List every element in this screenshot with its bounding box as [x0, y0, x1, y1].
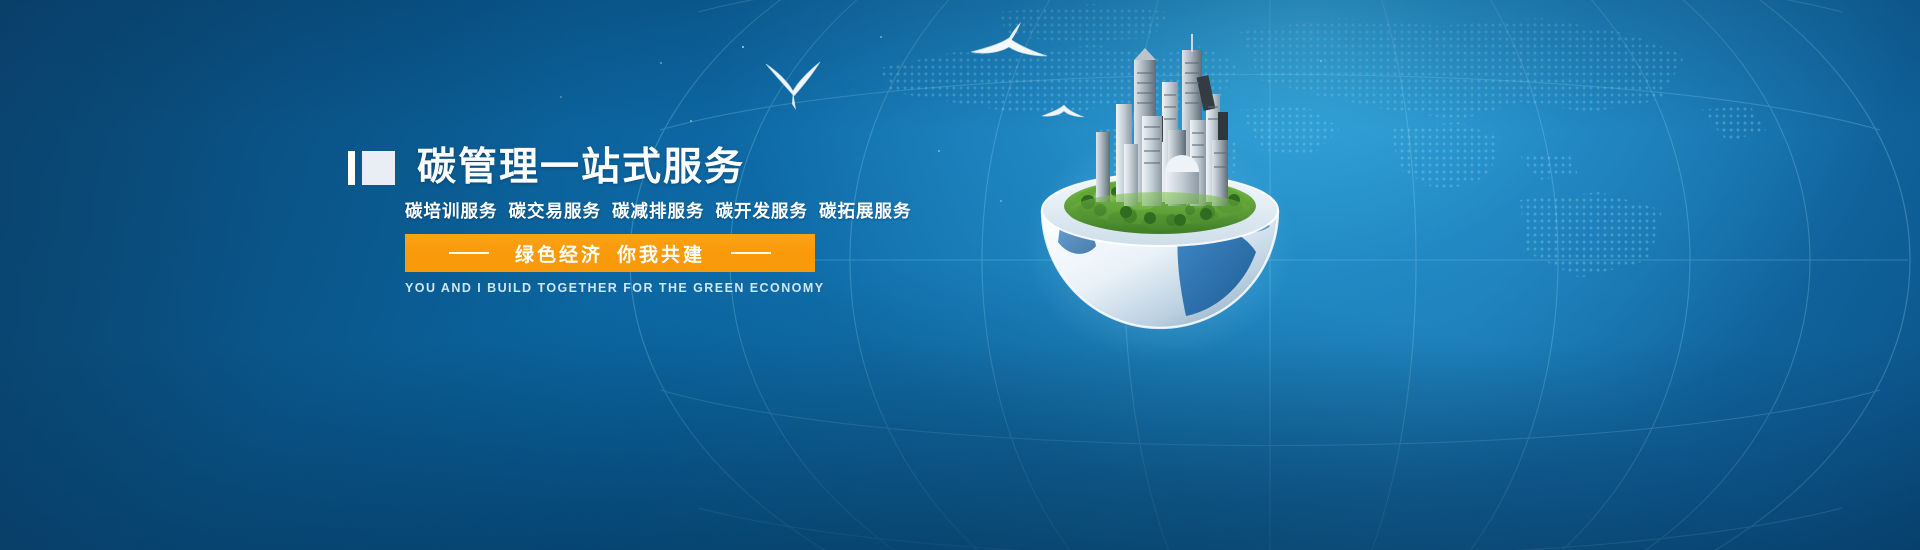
slogan-text-left: 绿色经济	[515, 245, 603, 266]
service-item-carbon-expansion[interactable]: 碳拓展服务	[819, 198, 912, 223]
service-item-carbon-training[interactable]: 碳培训服务	[405, 198, 498, 223]
english-tagline: YOU AND I BUILD TOGETHER FOR THE GREEN E…	[405, 281, 815, 295]
slogan-text: 绿色经济你我共建	[515, 240, 705, 267]
earth-globe-with-city-icon	[1030, 20, 1290, 360]
slogan-banner: 绿色经济你我共建	[405, 234, 815, 272]
two-bar-mark-icon	[348, 151, 395, 185]
page-title: 碳管理一站式服务	[417, 148, 745, 187]
hero-banner: 碳管理一站式服务 碳培训服务碳交易服务碳减排服务碳开发服务碳拓展服务 绿色经济你…	[0, 0, 1920, 550]
slogan-text-right: 你我共建	[617, 245, 705, 266]
banner-content: 碳管理一站式服务 碳培训服务碳交易服务碳减排服务碳开发服务碳拓展服务 绿色经济你…	[348, 148, 988, 223]
service-item-carbon-trading[interactable]: 碳交易服务	[509, 198, 602, 223]
service-list: 碳培训服务碳交易服务碳减排服务碳开发服务碳拓展服务	[405, 198, 988, 223]
service-item-carbon-development[interactable]: 碳开发服务	[716, 198, 809, 223]
service-item-carbon-reduction[interactable]: 碳减排服务	[612, 198, 705, 223]
birds-group	[0, 0, 1920, 550]
horizontal-rule-icon	[449, 252, 489, 254]
title-row: 碳管理一站式服务	[348, 148, 988, 187]
seagull-icon	[762, 58, 824, 114]
horizontal-rule-icon	[731, 252, 771, 254]
